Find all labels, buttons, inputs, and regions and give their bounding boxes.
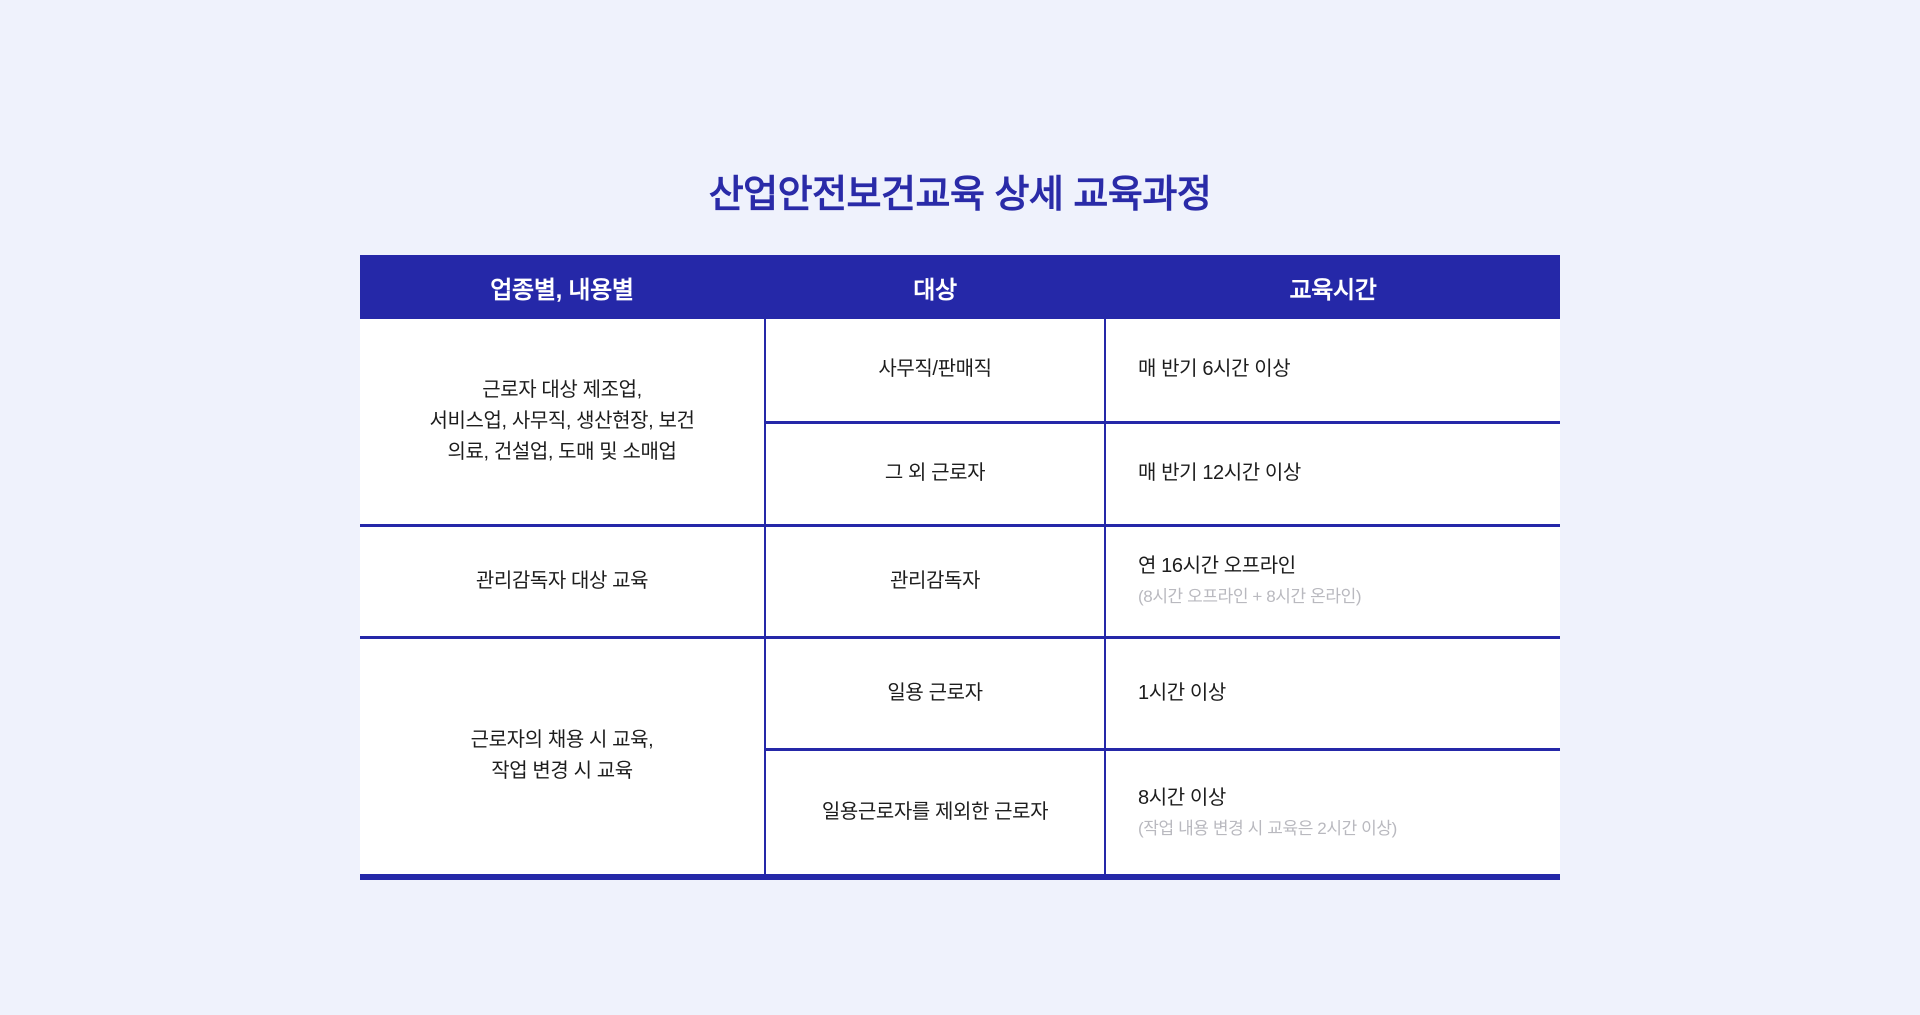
cell-hours: 1시간 이상 [1105,637,1560,749]
category-line-1: 관리감독자 대상 교육 [360,566,764,597]
table-row: 관리감독자 대상 교육 관리감독자 연 16시간 오프라인 (8시간 오프라인 … [360,525,1560,637]
target-label: 사무직/판매직 [766,354,1104,385]
target-label: 일용근로자를 제외한 근로자 [766,797,1104,828]
cell-target: 그 외 근로자 [765,422,1105,525]
category-line-2: 작업 변경 시 교육 [360,756,764,787]
table-row: 근로자 대상 제조업, 서비스업, 사무직, 생산현장, 보건 의료, 건설업,… [360,319,1560,422]
cell-category-group-3: 근로자의 채용 시 교육, 작업 변경 시 교육 [360,637,765,877]
cell-target: 일용 근로자 [765,637,1105,749]
cell-category-group-1: 근로자 대상 제조업, 서비스업, 사무직, 생산현장, 보건 의료, 건설업,… [360,319,765,525]
course-table: 업종별, 내용별 대상 교육시간 근로자 대상 제조업, 서비스업, 사무직, … [360,255,1560,880]
table-header-row: 업종별, 내용별 대상 교육시간 [360,255,1560,319]
hours-main: 매 반기 6시간 이상 [1138,354,1560,385]
page-title: 산업안전보건교육 상세 교육과정 [0,173,1920,219]
cell-hours: 매 반기 6시간 이상 [1105,319,1560,422]
page-root: 산업안전보건교육 상세 교육과정 업종별, 내용별 대상 교육시간 근로자 대상… [0,0,1920,1015]
cell-hours: 8시간 이상 (작업 내용 변경 시 교육은 2시간 이상) [1105,749,1560,877]
target-label: 관리감독자 [766,566,1104,597]
table-header: 업종별, 내용별 대상 교육시간 [360,255,1560,319]
table-body: 근로자 대상 제조업, 서비스업, 사무직, 생산현장, 보건 의료, 건설업,… [360,319,1560,877]
cell-hours: 매 반기 12시간 이상 [1105,422,1560,525]
cell-hours: 연 16시간 오프라인 (8시간 오프라인 + 8시간 온라인) [1105,525,1560,637]
hours-main: 연 16시간 오프라인 [1138,551,1560,582]
category-line-1: 근로자의 채용 시 교육, [360,725,764,756]
hours-note: (작업 내용 변경 시 교육은 2시간 이상) [1138,816,1560,842]
cell-category-group-2: 관리감독자 대상 교육 [360,525,765,637]
hours-note: (8시간 오프라인 + 8시간 온라인) [1138,584,1560,610]
cell-target: 일용근로자를 제외한 근로자 [765,749,1105,877]
hours-main: 매 반기 12시간 이상 [1138,458,1560,489]
table-row: 근로자의 채용 시 교육, 작업 변경 시 교육 일용 근로자 1시간 이상 [360,637,1560,749]
column-header-category: 업종별, 내용별 [360,255,765,319]
hours-main: 1시간 이상 [1138,678,1560,709]
target-label: 일용 근로자 [766,678,1104,709]
cell-target: 관리감독자 [765,525,1105,637]
category-line-1: 근로자 대상 제조업, [360,375,764,406]
hours-main: 8시간 이상 [1138,783,1560,814]
category-line-3: 의료, 건설업, 도매 및 소매업 [360,437,764,468]
target-label: 그 외 근로자 [766,458,1104,489]
cell-target: 사무직/판매직 [765,319,1105,422]
column-header-hours: 교육시간 [1105,255,1560,319]
column-header-target: 대상 [765,255,1105,319]
category-line-2: 서비스업, 사무직, 생산현장, 보건 [360,406,764,437]
course-table-container: 업종별, 내용별 대상 교육시간 근로자 대상 제조업, 서비스업, 사무직, … [360,255,1560,880]
